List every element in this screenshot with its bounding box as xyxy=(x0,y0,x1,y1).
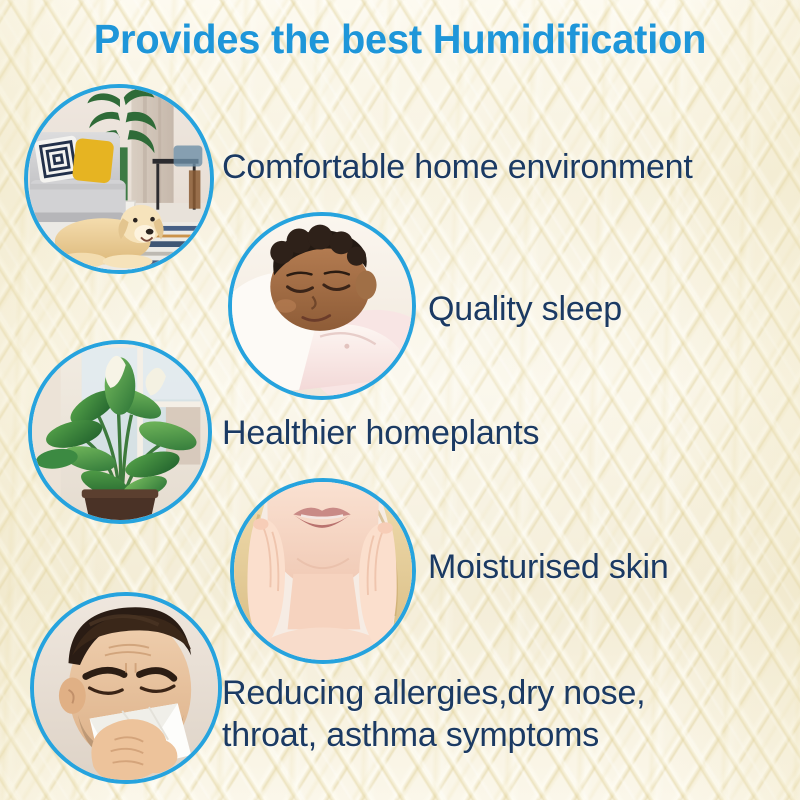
houseplant-illustration xyxy=(32,344,208,520)
man-blowing-nose-illustration xyxy=(34,596,218,780)
living-room-illustration xyxy=(28,88,210,270)
sleeping-baby-photo xyxy=(228,212,416,400)
sleeping-baby-illustration xyxy=(232,216,412,396)
moisturised-skin-illustration xyxy=(234,482,412,660)
benefit-label-comfortable-home-environment: Comfortable home environment xyxy=(222,146,693,188)
houseplant-photo xyxy=(28,340,212,524)
page-title: Provides the best Humidification xyxy=(12,16,788,63)
man-blowing-nose-photo xyxy=(30,592,222,784)
benefit-label-reducing-allergies: Reducing allergies,dry nose, throat, ast… xyxy=(222,672,645,756)
benefit-label-moisturised-skin: Moisturised skin xyxy=(428,546,669,588)
benefit-label-quality-sleep: Quality sleep xyxy=(428,288,622,330)
benefit-label-healthier-homeplants: Healthier homeplants xyxy=(222,412,539,454)
humidifier-benefits-poster: Provides the best Humidification xyxy=(0,0,800,800)
moisturised-skin-photo xyxy=(230,478,416,664)
living-room-with-dog-photo xyxy=(24,84,214,274)
